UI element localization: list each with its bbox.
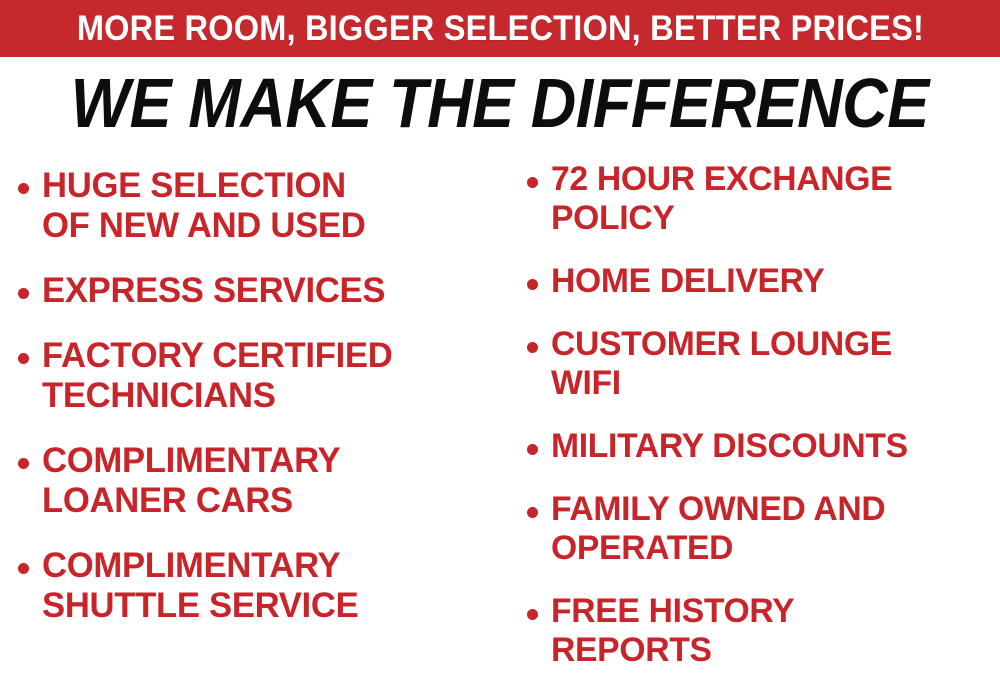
list-item: EXPRESS SERVICES (18, 271, 505, 311)
page-title: WE MAKE THE DIFFERENCE (71, 68, 929, 138)
bullet-dot-icon (527, 279, 538, 290)
list-item-label: CUSTOMER LOUNGE WIFI (551, 325, 892, 403)
list-item-label: EXPRESS SERVICES (42, 271, 385, 311)
bullet-dot-icon (527, 507, 538, 518)
list-item-label: HUGE SELECTION OF NEW AND USED (42, 166, 365, 246)
list-item-label: FACTORY CERTIFIED TECHNICIANS (42, 336, 392, 416)
list-item: COMPLIMENTARY SHUTTLE SERVICE (18, 546, 505, 626)
bullet-dot-icon (527, 609, 538, 620)
bullet-dot-icon (527, 444, 538, 455)
bullet-dot-icon (18, 458, 29, 469)
list-item-label: COMPLIMENTARY LOANER CARS (42, 441, 340, 521)
list-item: FAMILY OWNED AND OPERATED (527, 490, 1000, 568)
list-item-label: MILITARY DISCOUNTS (551, 427, 908, 466)
list-item: MILITARY DISCOUNTS (527, 427, 1000, 466)
list-item-label: HOME DELIVERY (551, 262, 825, 301)
promo-banner-text: MORE ROOM, BIGGER SELECTION, BETTER PRIC… (76, 11, 923, 46)
benefits-columns: HUGE SELECTION OF NEW AND USED EXPRESS S… (0, 150, 1000, 694)
list-item: 72 HOUR EXCHANGE POLICY (527, 160, 1000, 238)
headline-container: WE MAKE THE DIFFERENCE (0, 66, 1000, 140)
list-item: FACTORY CERTIFIED TECHNICIANS (18, 336, 505, 416)
benefits-column-left: HUGE SELECTION OF NEW AND USED EXPRESS S… (0, 150, 505, 651)
list-item-label: FAMILY OWNED AND OPERATED (551, 490, 885, 568)
list-item-label: 72 HOUR EXCHANGE POLICY (551, 160, 892, 238)
list-item: HUGE SELECTION OF NEW AND USED (18, 166, 505, 246)
bullet-dot-icon (18, 563, 29, 574)
benefits-column-right: 72 HOUR EXCHANGE POLICY HOME DELIVERY CU… (505, 150, 1000, 694)
list-item: HOME DELIVERY (527, 262, 1000, 301)
list-item: COMPLIMENTARY LOANER CARS (18, 441, 505, 521)
list-item: FREE HISTORY REPORTS (527, 592, 1000, 670)
bullet-dot-icon (18, 288, 29, 299)
list-item: CUSTOMER LOUNGE WIFI (527, 325, 1000, 403)
list-item-label: FREE HISTORY REPORTS (551, 592, 794, 670)
bullet-dot-icon (527, 177, 538, 188)
promo-banner: MORE ROOM, BIGGER SELECTION, BETTER PRIC… (0, 0, 1000, 57)
list-item-label: COMPLIMENTARY SHUTTLE SERVICE (42, 546, 358, 626)
bullet-dot-icon (527, 342, 538, 353)
bullet-dot-icon (18, 353, 29, 364)
bullet-dot-icon (18, 183, 29, 194)
